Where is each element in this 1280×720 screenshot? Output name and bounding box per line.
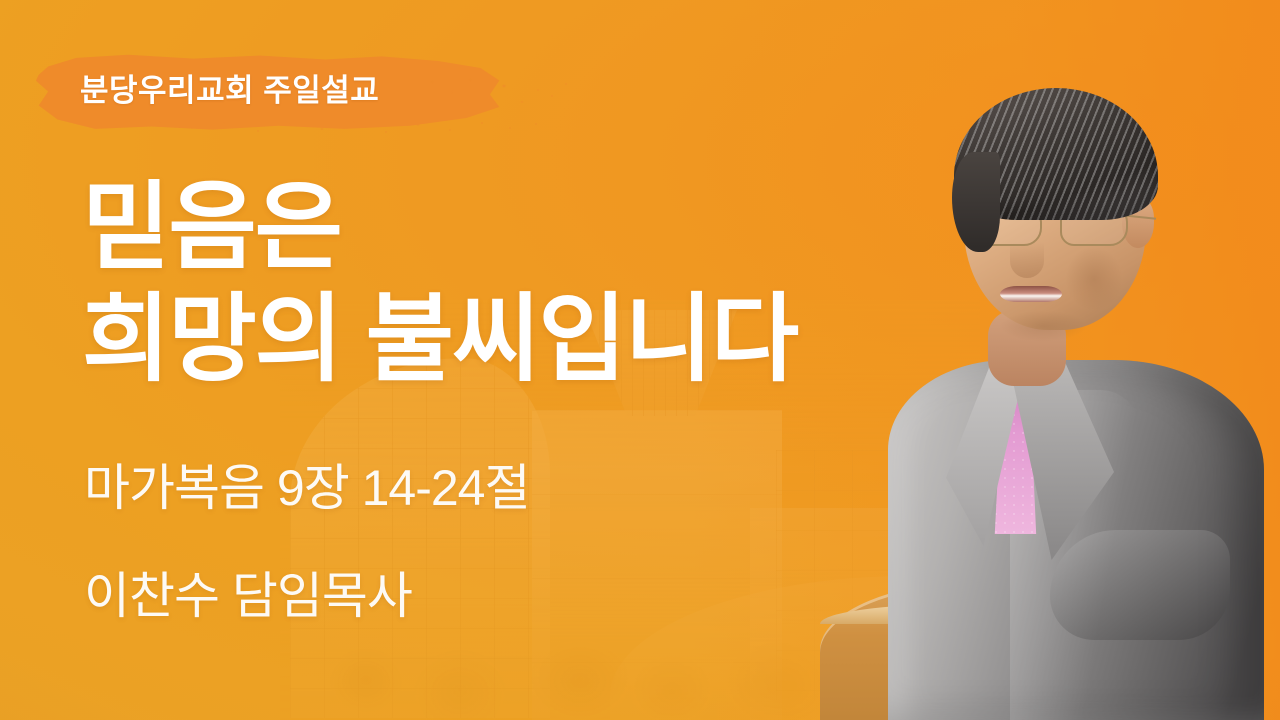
sermon-title: 믿음은 희망의 불씨입니다 bbox=[82, 172, 942, 396]
scripture-reference: 마가복음 9장 14-24절 bbox=[84, 434, 784, 542]
sermon-title-line-2: 희망의 불씨입니다 bbox=[82, 284, 942, 396]
chin-shadow bbox=[988, 306, 1098, 346]
suit-arm-fold bbox=[1050, 530, 1230, 640]
brush-speckle-icon bbox=[154, 118, 554, 140]
brush-tail-icon bbox=[426, 72, 576, 118]
speaker-name: 이찬수 담임목사 bbox=[84, 542, 784, 650]
hair-sideburn bbox=[952, 152, 1000, 252]
speaker-portrait bbox=[860, 60, 1280, 720]
sermon-title-line-1: 믿음은 bbox=[82, 172, 942, 284]
nose bbox=[1010, 242, 1044, 278]
series-badge-label: 분당우리교회 주일설교 bbox=[80, 66, 379, 116]
sermon-thumbnail: 분당우리교회 주일설교 믿음은 희망의 불씨입니다 마가복음 9장 14-24절… bbox=[0, 0, 1280, 720]
mouth bbox=[1000, 286, 1062, 302]
sermon-meta: 마가복음 9장 14-24절 이찬수 담임목사 bbox=[84, 434, 784, 650]
series-badge: 분당우리교회 주일설교 bbox=[34, 46, 554, 146]
